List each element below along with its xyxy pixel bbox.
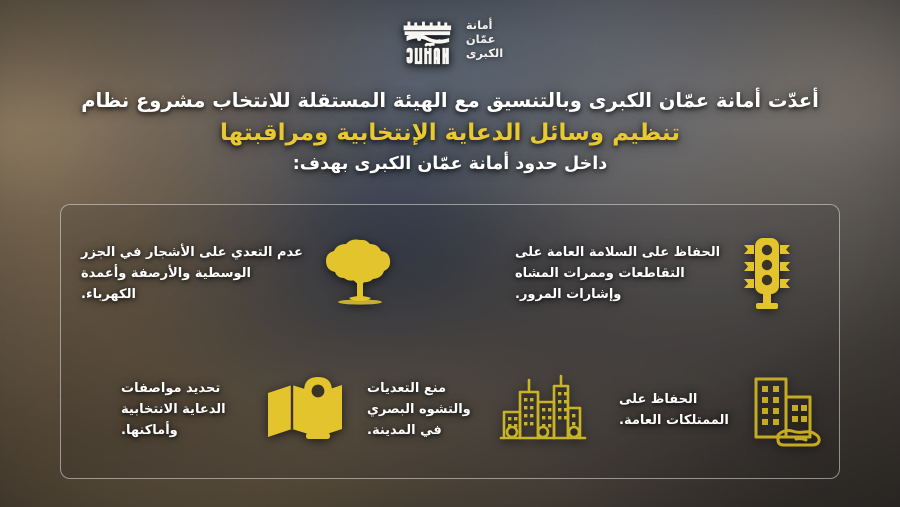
traffic-light-icon xyxy=(736,233,798,313)
infographic-canvas: أمانة عمّان الكبرى xyxy=(0,0,900,507)
objectives-row-bottom: الحفاظ على الممتلكات العامة. xyxy=(61,342,839,479)
buildings-hand-icon xyxy=(744,369,830,451)
amman-municipality-emblem-icon xyxy=(397,8,459,70)
objective-visual-pollution: منع التعديات والتشوه البصري في المدينة. xyxy=(361,342,609,479)
objective-ad-specifications-text: تحديد مواصفات الدعاية الانتخابية وأماكنه… xyxy=(121,378,249,441)
objectives-row-top: الحفاظ على السلامة العامة على التقاطعات … xyxy=(61,205,839,342)
headline-block: أعدّت أمانة عمّان الكبرى وبالتنسيق مع ال… xyxy=(0,88,900,177)
logo-line-2: عمّان xyxy=(466,32,496,46)
logo-line-3: الكبرى xyxy=(466,46,503,60)
objective-public-property-text: الحفاظ على الممتلكات العامة. xyxy=(619,389,731,431)
city-skyline-icon xyxy=(498,368,588,452)
objective-visual-pollution-text: منع التعديات والتشوه البصري في المدينة. xyxy=(367,378,485,441)
map-location-pin-icon xyxy=(262,371,350,449)
objective-public-safety-text: الحفاظ على السلامة العامة على التقاطعات … xyxy=(515,242,723,305)
logo-wordmark: أمانة عمّان الكبرى xyxy=(466,18,503,60)
headline-line-3: داخل حدود أمانة عمّان الكبرى بهدف: xyxy=(0,153,900,177)
objectives-panel: الحفاظ على السلامة العامة على التقاطعات … xyxy=(60,204,840,479)
headline-line-1: أعدّت أمانة عمّان الكبرى وبالتنسيق مع ال… xyxy=(0,88,900,114)
municipality-logo: أمانة عمّان الكبرى xyxy=(397,8,503,70)
objective-ad-specifications: تحديد مواصفات الدعاية الانتخابية وأماكنه… xyxy=(99,342,361,479)
objective-public-property: الحفاظ على الممتلكات العامة. xyxy=(609,342,839,479)
tree-icon xyxy=(319,232,401,314)
objective-trees-protection: عدم التعدي على الأشجار في الجزر الوسطية … xyxy=(61,205,431,342)
logo-line-1: أمانة xyxy=(466,18,493,32)
headline-line-2-highlight: تنظيم وسائل الدعاية الإنتخابية ومراقبتها xyxy=(0,118,900,150)
objective-trees-protection-text: عدم التعدي على الأشجار في الجزر الوسطية … xyxy=(81,242,306,305)
objective-public-safety: الحفاظ على السلامة العامة على التقاطعات … xyxy=(509,205,839,342)
